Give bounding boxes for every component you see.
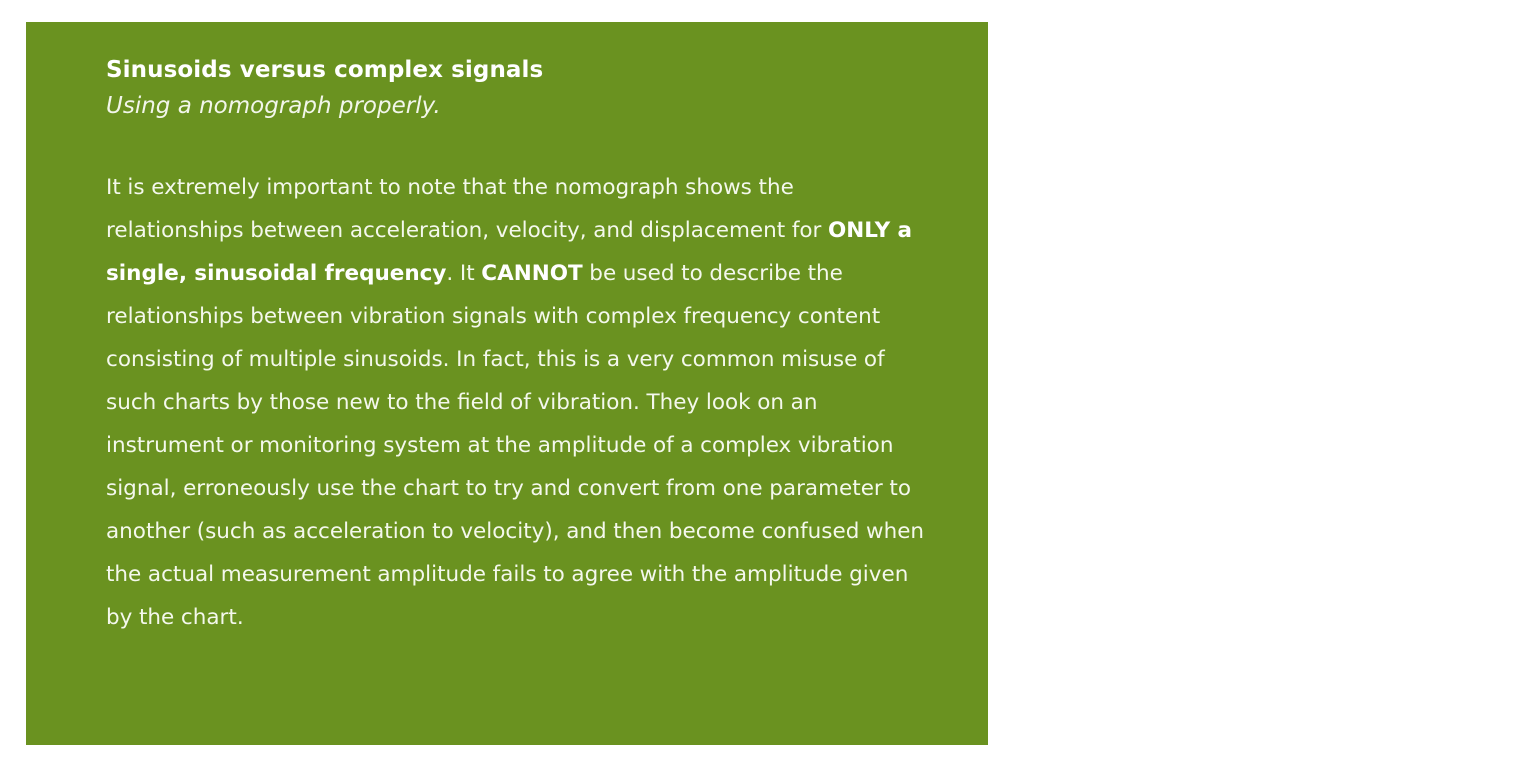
callout-title: Sinusoids versus complex signals xyxy=(106,52,934,88)
callout-body-text: It is extremely important to note that t… xyxy=(106,166,934,639)
callout-content: Sinusoids versus complex signals Using a… xyxy=(106,52,934,639)
callout-subtitle: Using a nomograph properly. xyxy=(106,88,934,124)
callout-panel: Sinusoids versus complex signals Using a… xyxy=(26,22,988,745)
